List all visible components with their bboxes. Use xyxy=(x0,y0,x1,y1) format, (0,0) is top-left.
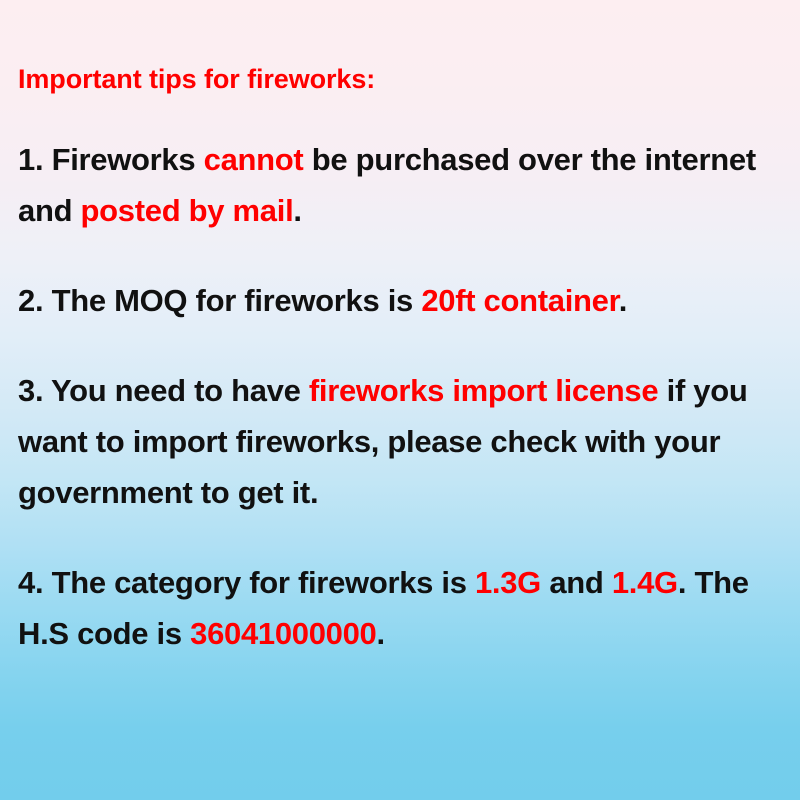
tip-paragraph-3: 3. You need to have fireworks import lic… xyxy=(18,365,782,518)
highlighted-text: 1.4G xyxy=(612,565,678,600)
highlighted-text: posted by mail xyxy=(81,193,294,228)
tip-paragraph-2: 2. The MOQ for fireworks is 20ft contain… xyxy=(18,275,782,326)
body-text: 3. You need to have xyxy=(18,373,309,408)
body-text: 2. The MOQ for fireworks is xyxy=(18,283,421,318)
body-text: and xyxy=(541,565,612,600)
highlighted-text: cannot xyxy=(204,142,304,177)
body-text: 1. Fireworks xyxy=(18,142,204,177)
body-text: . xyxy=(293,193,301,228)
body-text: . xyxy=(619,283,627,318)
highlighted-text: 20ft container xyxy=(421,283,618,318)
highlighted-text: 36041000000 xyxy=(190,616,376,651)
highlighted-text: fireworks import license xyxy=(309,373,658,408)
fireworks-tips-poster: Important tips for fireworks: 1. Firewor… xyxy=(0,0,800,800)
body-text: 4. The category for fireworks is xyxy=(18,565,475,600)
page-title: Important tips for fireworks: xyxy=(18,62,782,96)
highlighted-text: 1.3G xyxy=(475,565,541,600)
body-text: . xyxy=(376,616,384,651)
tip-paragraph-1: 1. Fireworks cannot be purchased over th… xyxy=(18,134,782,236)
tip-paragraph-4: 4. The category for fireworks is 1.3G an… xyxy=(18,557,782,659)
